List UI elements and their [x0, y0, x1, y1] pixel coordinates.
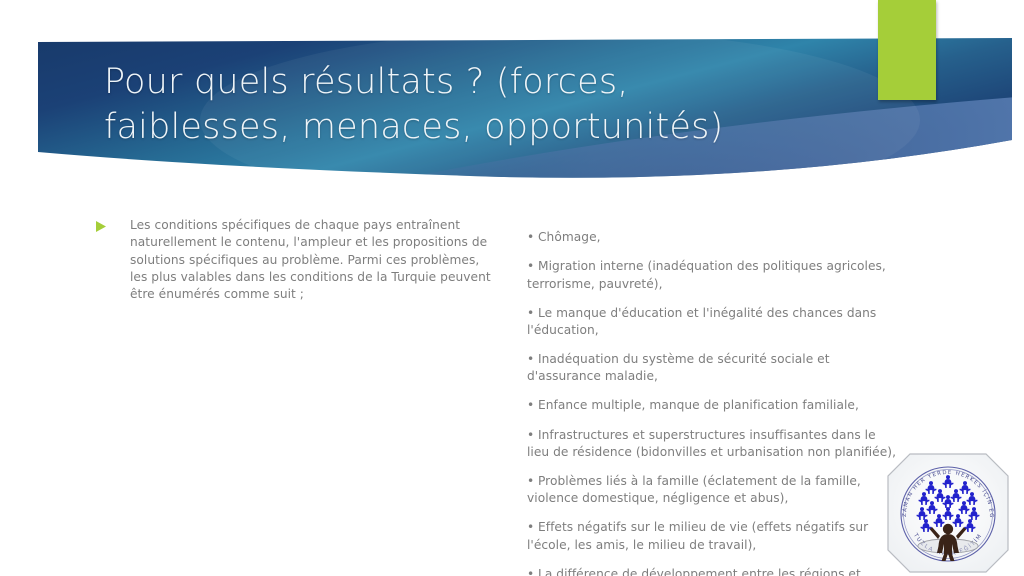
page-title: Pour quels résultats ? (forces, faibless… — [104, 60, 884, 150]
list-item-text: Infrastructures et superstructures insuf… — [527, 428, 896, 459]
list-item: •Infrastructures et superstructures insu… — [527, 427, 899, 461]
list-item: •Migration interne (inadéquation des pol… — [527, 258, 899, 292]
left-paragraph-text: Les conditions spécifiques de chaque pay… — [130, 217, 496, 304]
bullet-dot-icon: • — [527, 473, 538, 490]
list-item: •La différence de développement entre le… — [527, 566, 899, 576]
list-item-text: Chômage, — [538, 230, 601, 244]
list-item-text: Inadéquation du système de sécurité soci… — [527, 352, 830, 383]
presentation-slide: Pour quels résultats ? (forces, faibless… — [0, 0, 1024, 576]
list-item: •Inadéquation du système de sécurité soc… — [527, 351, 899, 385]
title-block: Pour quels résultats ? (forces, faibless… — [104, 60, 884, 150]
list-item: •Le manque d'éducation et l'inégalité de… — [527, 305, 899, 339]
list-item-text: Enfance multiple, manque de planificatio… — [538, 398, 859, 412]
list-item: •Chômage, — [527, 229, 899, 246]
list-item: •Enfance multiple, manque de planificati… — [527, 397, 899, 414]
list-item-text: Effets négatifs sur le milieu de vie (ef… — [527, 520, 868, 551]
list-item-text: Problèmes liés à la famille (éclatement … — [527, 474, 861, 505]
bullet-dot-icon: • — [527, 351, 538, 368]
bullet-dot-icon: • — [527, 519, 538, 536]
right-content-column: •Chômage, •Migration interne (inadéquati… — [527, 217, 899, 576]
bullet-dot-icon: • — [527, 229, 538, 246]
tuzla-halk-egitim-logo: HER ZAMAN HER YERDE HERKES İÇİN EĞİTİM T… — [884, 450, 1012, 576]
bullet-dot-icon: • — [527, 397, 538, 414]
list-item: •Problèmes liés à la famille (éclatement… — [527, 473, 899, 507]
bullet-dot-icon: • — [527, 566, 538, 576]
slide-body: Les conditions spécifiques de chaque pay… — [0, 205, 1024, 576]
bullet-dot-icon: • — [527, 305, 538, 322]
green-accent-bar — [878, 0, 936, 100]
left-content-column: Les conditions spécifiques de chaque pay… — [96, 217, 496, 304]
list-item: Les conditions spécifiques de chaque pay… — [96, 217, 496, 304]
list-item-text: Le manque d'éducation et l'inégalité des… — [527, 306, 876, 337]
bullet-dot-icon: • — [527, 258, 538, 275]
triangle-bullet-icon — [96, 221, 106, 232]
list-item-text: La différence de développement entre les… — [527, 567, 861, 576]
bullet-dot-icon: • — [527, 427, 538, 444]
list-item: •Effets négatifs sur le milieu de vie (e… — [527, 519, 899, 553]
list-item-text: Migration interne (inadéquation des poli… — [527, 259, 886, 290]
